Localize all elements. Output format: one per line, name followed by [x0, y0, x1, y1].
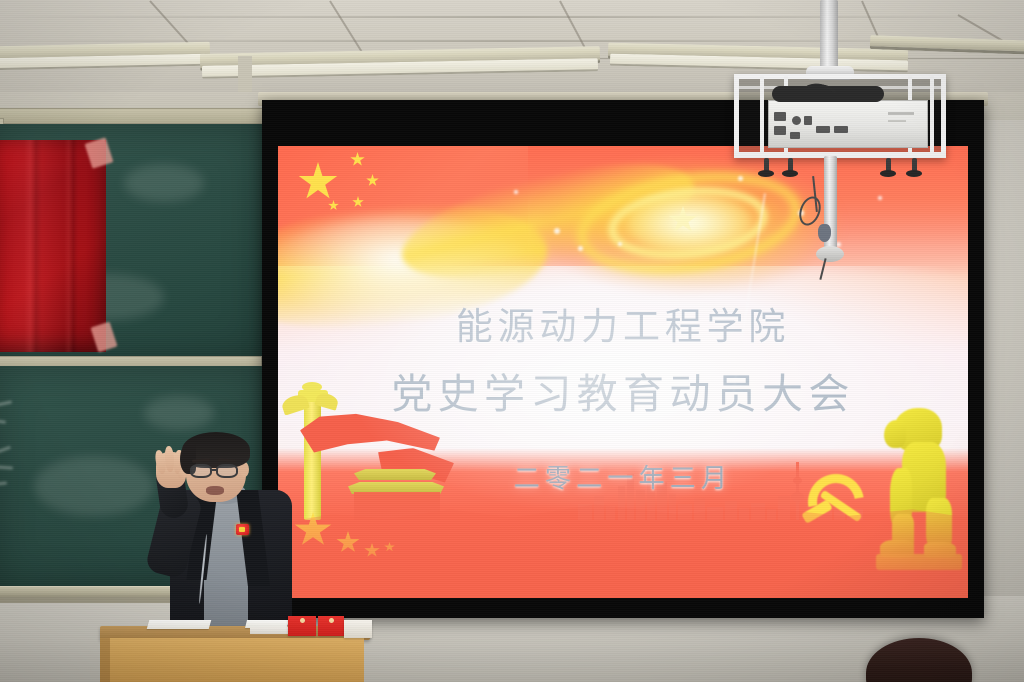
speaker-figure — [140, 428, 320, 638]
projector-label-2 — [888, 120, 906, 122]
podium-paper-left — [147, 620, 212, 629]
podium-left-side — [100, 638, 110, 682]
red-cloth-banner — [0, 140, 106, 352]
photo-scene: 能源动力工程学院 党史学习教育动员大会 二零二一年三月 — [0, 0, 1024, 682]
projector-mount-pole-upper — [820, 0, 838, 72]
projector-label — [888, 112, 914, 115]
red-box-emblem-2 — [329, 618, 334, 623]
speaker-mouth — [206, 486, 224, 495]
projector-pole-base — [816, 246, 844, 262]
eyeglass-right — [216, 464, 238, 478]
chalkboard-top-rail — [0, 108, 266, 124]
light-swirl-center — [628, 192, 752, 254]
podium-white-box — [344, 620, 372, 638]
cable-plug — [818, 224, 831, 242]
projector-body — [768, 100, 928, 148]
slide-content: 能源动力工程学院 党史学习教育动员大会 二零二一年三月 — [278, 146, 968, 598]
slide-title-line-2: 党史学习教育动员大会 — [278, 360, 968, 420]
eyeglass-left — [190, 464, 212, 478]
red-box-emblem-1 — [300, 618, 305, 623]
slide-date-line: 二零二一年三月 — [278, 458, 968, 495]
projection-screen: 能源动力工程学院 党史学习教育动员大会 二零二一年三月 — [262, 100, 984, 618]
podium-body — [106, 638, 364, 682]
slide-title-line-1: 能源动力工程学院 — [278, 296, 968, 350]
